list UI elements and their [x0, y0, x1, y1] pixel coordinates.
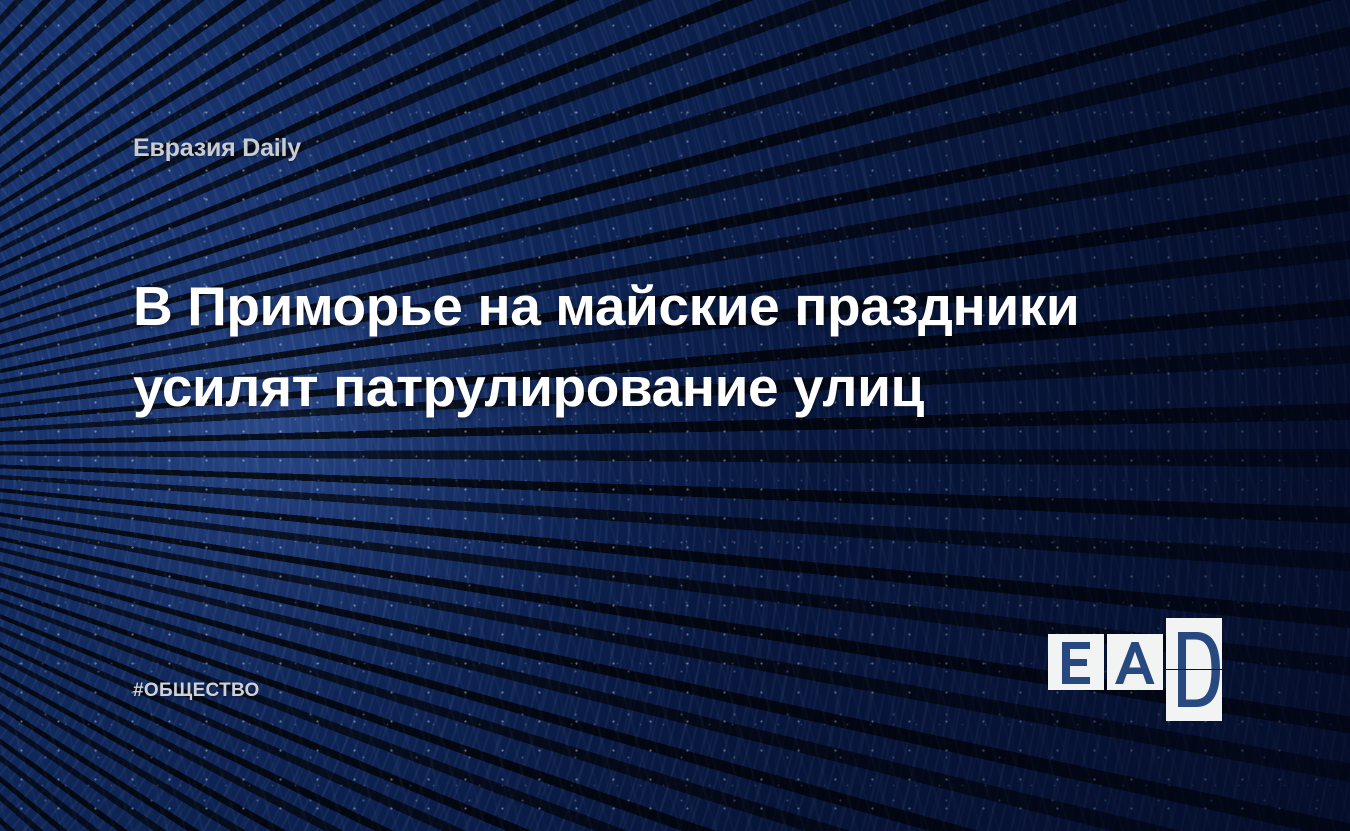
news-share-card: Евразия Daily В Приморье на майские праз…	[0, 0, 1350, 831]
card-content: Евразия Daily В Приморье на майские праз…	[0, 0, 1350, 831]
logo-tile-a	[1107, 634, 1163, 690]
headline-title: В Приморье на майские праздники усилят п…	[133, 266, 1113, 428]
logo-tile-d-bottom	[1166, 670, 1222, 721]
brand-name: Евразия Daily	[133, 136, 301, 161]
category-tag: #ОБЩЕСТВО	[133, 681, 260, 700]
logo-tile-d-top	[1166, 618, 1222, 669]
logo-tile-e	[1048, 634, 1104, 690]
eadaily-logo	[1046, 618, 1222, 708]
